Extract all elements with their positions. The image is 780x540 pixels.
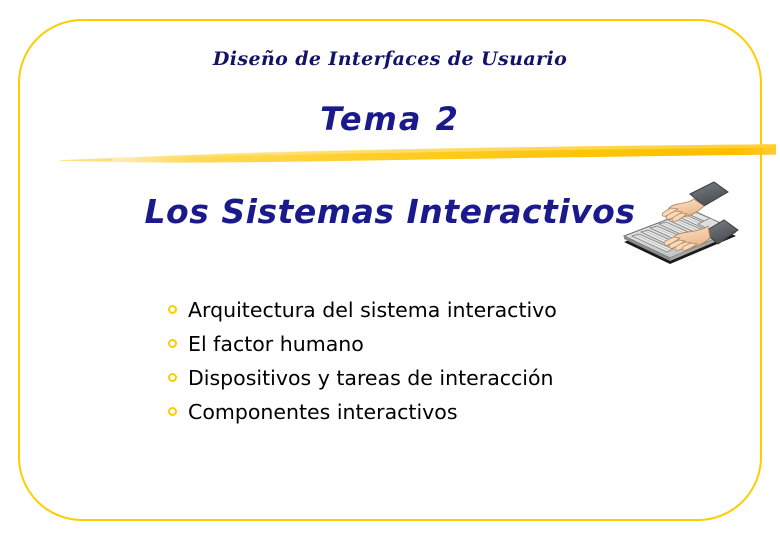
list-item: Componentes interactivos <box>168 400 688 434</box>
list-item: Arquitectura del sistema interactivo <box>168 298 688 332</box>
hands-typing-keyboard-icon <box>618 176 744 278</box>
keyboard-clipart-svg <box>618 176 744 278</box>
divider-stroke-icon <box>60 140 780 172</box>
list-item: Dispositivos y tareas de interacción <box>168 366 688 400</box>
list-item: El factor humano <box>168 332 688 366</box>
bullet-list: Arquitectura del sistema interactivo El … <box>168 298 688 434</box>
bullet-ring-icon <box>168 305 177 314</box>
bullet-ring-icon <box>168 407 177 416</box>
list-item-label: Dispositivos y tareas de interacción <box>188 366 554 390</box>
list-item-label: Arquitectura del sistema interactivo <box>188 298 557 322</box>
divider-brush-stroke <box>60 140 780 172</box>
list-item-label: El factor humano <box>188 332 364 356</box>
bullet-ring-icon <box>168 373 177 382</box>
bullet-ring-icon <box>168 339 177 348</box>
tema-title: Tema 2 <box>0 100 780 138</box>
list-item-label: Componentes interactivos <box>188 400 458 424</box>
course-title: Diseño de Interfaces de Usuario <box>0 48 780 70</box>
